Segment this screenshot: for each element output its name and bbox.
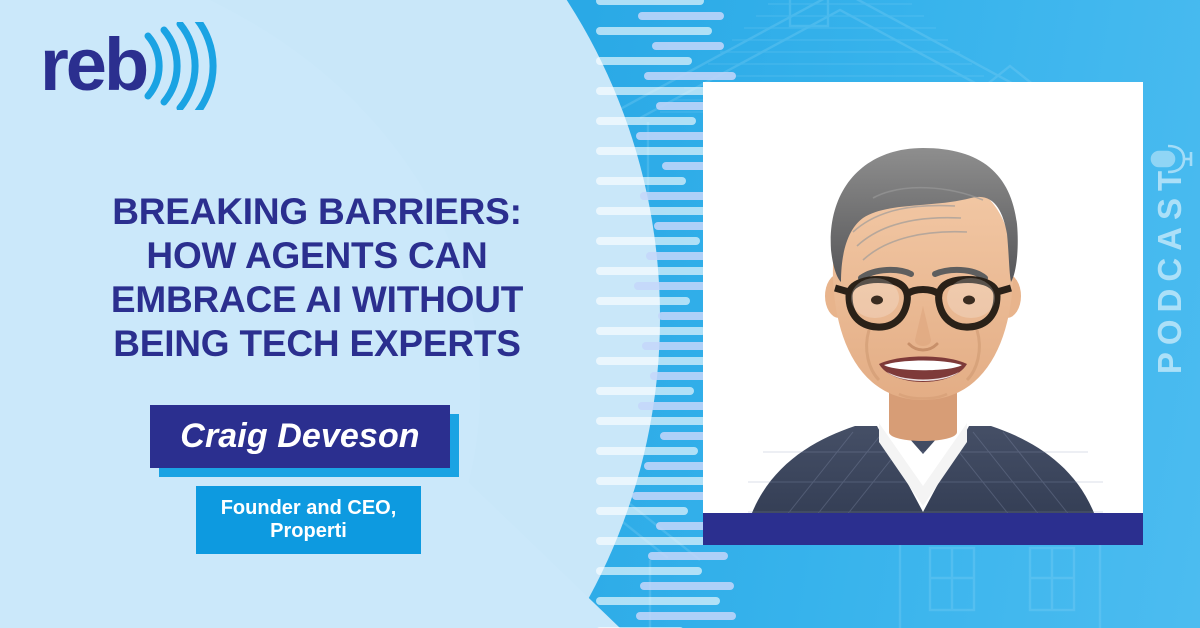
waveform-bar [596, 0, 756, 9]
guest-name-badge: Craig Deveson [150, 405, 460, 477]
waveform-bar [596, 564, 756, 579]
waveform-bar [596, 624, 756, 628]
waveform-bar [596, 579, 756, 594]
guest-photo [703, 82, 1143, 545]
waveform-bar [596, 9, 756, 24]
waveform-bar [596, 549, 756, 564]
waveform-bar [596, 54, 756, 69]
guest-name: Craig Deveson [180, 417, 419, 456]
waveform-bar [596, 24, 756, 39]
guest-role-line-1: Founder and CEO, [221, 497, 397, 520]
title-line-4: BEING TECH EXPERTS [52, 322, 582, 366]
svg-text:reb: reb [40, 23, 147, 106]
title-line-1: BREAKING BARRIERS: [52, 190, 582, 234]
reb-logo[interactable]: reb [40, 22, 220, 110]
guest-role-line-2: Properti [270, 520, 347, 543]
podcast-rail: PODCAST [1142, 0, 1200, 628]
waveform-bar [596, 609, 756, 624]
guest-photo-base-bar [703, 513, 1143, 545]
podcast-label: PODCAST [1151, 89, 1189, 449]
podcast-promo-card: reb BREAKING BARRIERS: HOW AGENTS CAN EM… [0, 0, 1200, 628]
guest-photo-image [703, 82, 1143, 545]
guest-name-box: Craig Deveson [150, 405, 450, 468]
page-title: BREAKING BARRIERS: HOW AGENTS CAN EMBRAC… [52, 190, 582, 366]
waveform-bar [596, 39, 756, 54]
waveform-bar [596, 594, 756, 609]
title-line-3: EMBRACE AI WITHOUT [52, 278, 582, 322]
guest-role-badge: Founder and CEO, Properti [196, 486, 421, 554]
title-line-2: HOW AGENTS CAN [52, 234, 582, 278]
